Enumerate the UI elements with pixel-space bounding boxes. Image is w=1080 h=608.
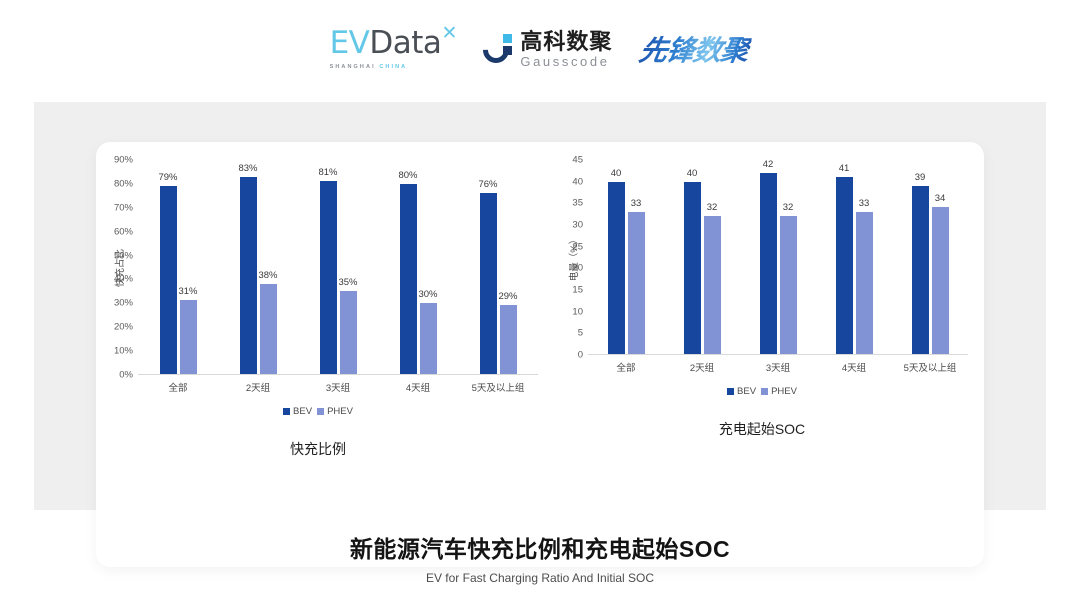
bar-value-label: 76% bbox=[478, 179, 497, 190]
x-tick-label: 3天组 bbox=[298, 380, 378, 394]
evdata-tagline: SHANGHAI CHINA bbox=[330, 64, 442, 70]
x-tick-label: 3天组 bbox=[740, 360, 816, 374]
bar-value-label: 79% bbox=[158, 172, 177, 183]
bar-phev[interactable]: 34 bbox=[932, 207, 949, 354]
x-tick-label: 5天及以上组 bbox=[892, 360, 968, 374]
bar-phev[interactable]: 33 bbox=[628, 212, 645, 354]
y-tick-label: 50% bbox=[114, 250, 133, 261]
x-axis-labels-right: 全部2天组3天组4天组5天及以上组 bbox=[588, 360, 968, 374]
bar-fill bbox=[684, 182, 701, 354]
bar-value-label: 41 bbox=[839, 163, 850, 174]
chart-initial-soc: 电量（%） 40334032423241333934 0510152025303… bbox=[540, 142, 984, 567]
legend-label: BEV bbox=[737, 386, 756, 397]
content-panel: 快充占比 79%31%83%38%81%35%80%30%76%29% 0%10… bbox=[34, 102, 1046, 510]
bar-group: 3934 bbox=[892, 160, 968, 354]
y-tick-label: 25 bbox=[572, 241, 583, 252]
legend-swatch bbox=[761, 388, 768, 395]
plot-area-right: 电量（%） 40334032423241333934 0510152025303… bbox=[588, 160, 968, 355]
bar-fill bbox=[260, 284, 277, 374]
x-tick-label: 4天组 bbox=[378, 380, 458, 394]
x-tick-label: 4天组 bbox=[816, 360, 892, 374]
bar-value-label: 38% bbox=[258, 270, 277, 281]
y-tick-label: 30 bbox=[572, 219, 583, 230]
bar-phev[interactable]: 32 bbox=[704, 216, 721, 354]
y-tick-label: 90% bbox=[114, 155, 133, 166]
bar-fill bbox=[180, 300, 197, 374]
plot-canvas-right: 40334032423241333934 bbox=[588, 160, 968, 355]
chart-title-right: 充电起始SOC bbox=[540, 419, 984, 439]
legend-left: BEVPHEV bbox=[96, 406, 540, 417]
x-tick-label: 全部 bbox=[588, 360, 664, 374]
bar-phev[interactable]: 31% bbox=[180, 300, 197, 374]
bar-bev[interactable]: 80% bbox=[400, 184, 417, 374]
caption-chinese: 新能源汽车快充比例和充电起始SOC bbox=[0, 530, 1080, 564]
bar-fill bbox=[780, 216, 797, 354]
y-tick-label: 20 bbox=[572, 263, 583, 274]
chart-fast-charging-ratio: 快充占比 79%31%83%38%81%35%80%30%76%29% 0%10… bbox=[96, 142, 540, 567]
bar-value-label: 35% bbox=[338, 277, 357, 288]
bar-phev[interactable]: 29% bbox=[500, 305, 517, 374]
evdata-ev-text: EV bbox=[330, 25, 370, 61]
bar-fill bbox=[856, 212, 873, 354]
bar-bev[interactable]: 39 bbox=[912, 186, 929, 354]
bar-group: 83%38% bbox=[218, 160, 298, 374]
bar-group: 4032 bbox=[664, 160, 740, 354]
bar-value-label: 81% bbox=[318, 167, 337, 178]
bar-group: 80%30% bbox=[378, 160, 458, 374]
x-tick-label: 全部 bbox=[138, 380, 218, 394]
y-tick-label: 20% bbox=[114, 322, 133, 333]
evdata-wordmark: EVData bbox=[330, 28, 442, 59]
y-tick-label: 30% bbox=[114, 298, 133, 309]
bar-value-label: 40 bbox=[687, 168, 698, 179]
y-tick-label: 45 bbox=[572, 155, 583, 166]
legend-swatch bbox=[727, 388, 734, 395]
bar-bev[interactable]: 40 bbox=[684, 182, 701, 354]
bar-fill bbox=[760, 173, 777, 354]
bar-bev[interactable]: 40 bbox=[608, 182, 625, 354]
bar-fill bbox=[500, 305, 517, 374]
charts-container: 快充占比 79%31%83%38%81%35%80%30%76%29% 0%10… bbox=[96, 142, 984, 567]
y-tick-label: 40 bbox=[572, 176, 583, 187]
plot-canvas-left: 79%31%83%38%81%35%80%30%76%29% bbox=[138, 160, 538, 375]
evdata-logo: EVData SHANGHAI CHINA ✕ bbox=[330, 28, 458, 70]
x-axis-labels-left: 全部2天组3天组4天组5天及以上组 bbox=[138, 380, 538, 394]
chart-title-left: 快充比例 bbox=[96, 439, 540, 459]
bar-phev[interactable]: 32 bbox=[780, 216, 797, 354]
bar-value-label: 39 bbox=[915, 172, 926, 183]
bar-phev[interactable]: 35% bbox=[340, 291, 357, 374]
bar-groups-left: 79%31%83%38%81%35%80%30%76%29% bbox=[138, 160, 538, 374]
legend-label: PHEV bbox=[771, 386, 797, 397]
bar-fill bbox=[628, 212, 645, 354]
x-tick-label: 5天及以上组 bbox=[458, 380, 538, 394]
legend-item-bev[interactable]: BEV bbox=[727, 386, 756, 397]
bar-fill bbox=[320, 181, 337, 374]
bar-value-label: 34 bbox=[935, 193, 946, 204]
xianfeng-logo: 先锋数聚 bbox=[638, 29, 750, 69]
bar-value-label: 32 bbox=[783, 202, 794, 213]
legend-label: BEV bbox=[293, 406, 312, 417]
y-tick-label: 70% bbox=[114, 202, 133, 213]
bar-value-label: 32 bbox=[707, 202, 718, 213]
evdata-data-text: Data bbox=[369, 25, 441, 61]
bar-fill bbox=[912, 186, 929, 354]
gausscode-square-dark-shape bbox=[503, 46, 512, 55]
y-tick-label: 60% bbox=[114, 226, 133, 237]
legend-swatch bbox=[283, 408, 290, 415]
y-tick-label: 0 bbox=[578, 350, 583, 361]
bar-bev[interactable]: 79% bbox=[160, 186, 177, 374]
bar-value-label: 80% bbox=[398, 170, 417, 181]
bar-fill bbox=[400, 184, 417, 374]
bar-value-label: 29% bbox=[498, 291, 517, 302]
y-tick-label: 5 bbox=[578, 328, 583, 339]
bar-phev[interactable]: 33 bbox=[856, 212, 873, 354]
bar-value-label: 30% bbox=[418, 289, 437, 300]
gausscode-english-name: Gausscode bbox=[520, 55, 612, 68]
bar-fill bbox=[340, 291, 357, 374]
bar-phev[interactable]: 30% bbox=[420, 303, 437, 374]
x-tick-label: 2天组 bbox=[218, 380, 298, 394]
bar-bev[interactable]: 42 bbox=[760, 173, 777, 354]
logo-bar: EVData SHANGHAI CHINA ✕ 高科数聚 Gausscode 先… bbox=[0, 0, 1080, 92]
legend-item-phev[interactable]: PHEV bbox=[317, 406, 353, 417]
legend-swatch bbox=[317, 408, 324, 415]
bar-group: 4133 bbox=[816, 160, 892, 354]
y-tick-label: 15 bbox=[572, 284, 583, 295]
gausscode-square-light-shape bbox=[503, 34, 512, 43]
bar-phev[interactable]: 38% bbox=[260, 284, 277, 374]
bar-bev[interactable]: 76% bbox=[480, 193, 497, 374]
bar-bev[interactable]: 81% bbox=[320, 181, 337, 374]
evdata-tagline-city: SHANGHAI bbox=[330, 64, 380, 70]
bar-value-label: 31% bbox=[178, 286, 197, 297]
legend-item-bev[interactable]: BEV bbox=[283, 406, 312, 417]
plot-area-left: 快充占比 79%31%83%38%81%35%80%30%76%29% 0%10… bbox=[138, 160, 538, 375]
figure-caption: 新能源汽车快充比例和充电起始SOC EV for Fast Charging R… bbox=[0, 530, 1080, 585]
caption-english: EV for Fast Charging Ratio And Initial S… bbox=[0, 571, 1080, 585]
bar-fill bbox=[480, 193, 497, 374]
evdata-tagline-country: CHINA bbox=[379, 64, 407, 70]
y-tick-label: 40% bbox=[114, 274, 133, 285]
bar-bev[interactable]: 41 bbox=[836, 177, 853, 354]
chart-card: 快充占比 79%31%83%38%81%35%80%30%76%29% 0%10… bbox=[96, 142, 984, 567]
bar-value-label: 83% bbox=[238, 163, 257, 174]
x-tick-label: 2天组 bbox=[664, 360, 740, 374]
y-tick-label: 35 bbox=[572, 198, 583, 209]
bar-fill bbox=[836, 177, 853, 354]
xianfeng-wordmark: 先锋数聚 bbox=[635, 29, 754, 69]
gausscode-logo: 高科数聚 Gausscode bbox=[483, 31, 612, 68]
bar-groups-right: 40334032423241333934 bbox=[588, 160, 968, 354]
bar-value-label: 33 bbox=[631, 198, 642, 209]
bar-fill bbox=[160, 186, 177, 374]
gausscode-chinese-name: 高科数聚 bbox=[520, 31, 612, 53]
legend-right: BEVPHEV bbox=[540, 386, 984, 397]
evdata-x-icon: ✕ bbox=[441, 22, 457, 44]
bar-group: 76%29% bbox=[458, 160, 538, 374]
bar-group: 4232 bbox=[740, 160, 816, 354]
bar-value-label: 40 bbox=[611, 168, 622, 179]
bar-value-label: 33 bbox=[859, 198, 870, 209]
gausscode-mark-icon bbox=[483, 34, 513, 64]
y-tick-label: 10 bbox=[572, 306, 583, 317]
y-tick-label: 80% bbox=[114, 178, 133, 189]
y-tick-label: 10% bbox=[114, 346, 133, 357]
bar-fill bbox=[420, 303, 437, 374]
bar-fill bbox=[932, 207, 949, 354]
legend-item-phev[interactable]: PHEV bbox=[761, 386, 797, 397]
bar-bev[interactable]: 83% bbox=[240, 177, 257, 374]
bar-group: 79%31% bbox=[138, 160, 218, 374]
bar-fill bbox=[608, 182, 625, 354]
bar-group: 81%35% bbox=[298, 160, 378, 374]
bar-fill bbox=[240, 177, 257, 374]
bar-group: 4033 bbox=[588, 160, 664, 354]
bar-fill bbox=[704, 216, 721, 354]
bar-value-label: 42 bbox=[763, 159, 774, 170]
y-tick-label: 0% bbox=[119, 370, 133, 381]
legend-label: PHEV bbox=[327, 406, 353, 417]
